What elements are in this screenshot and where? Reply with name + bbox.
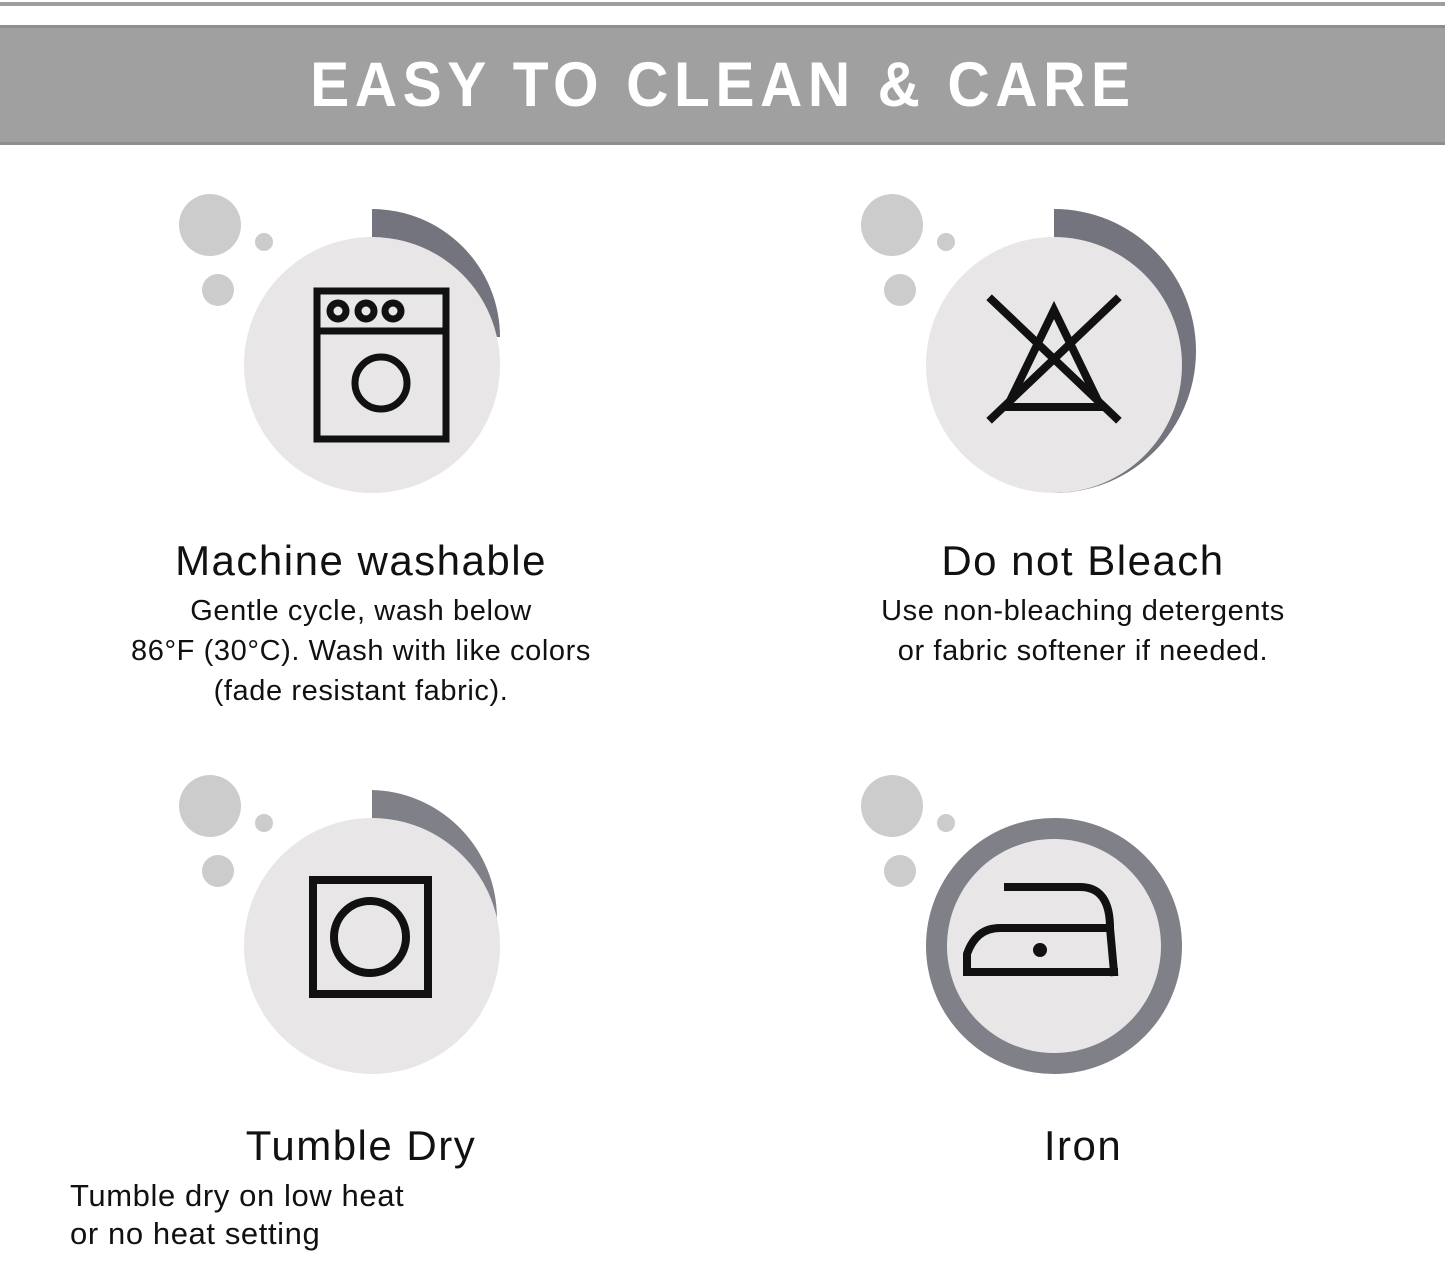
care-description-line: 86°F (30°C). Wash with like colors bbox=[0, 631, 722, 671]
do-not-bleach-caption: Do not Bleach Use non-bleaching detergen… bbox=[722, 537, 1444, 671]
care-cards-grid: Machine washable Gentle cycle, wash belo… bbox=[0, 175, 1445, 1254]
machine-washable-badge bbox=[160, 175, 560, 535]
care-description-line: or no heat setting bbox=[70, 1215, 490, 1254]
machine-washable-graphic bbox=[160, 175, 560, 535]
icon-disc bbox=[947, 839, 1161, 1053]
care-description: Use non-bleaching detergents or fabric s… bbox=[722, 591, 1444, 671]
iron-heat-dot-icon bbox=[1033, 943, 1047, 957]
care-description: Tumble dry on low heat or no heat settin… bbox=[70, 1177, 490, 1255]
care-description-line: Gentle cycle, wash below bbox=[0, 591, 722, 631]
bubble-large-icon bbox=[861, 775, 923, 837]
bubble-small-icon bbox=[937, 814, 955, 832]
care-title: Machine washable bbox=[0, 537, 722, 585]
icon-disc bbox=[244, 237, 500, 493]
bubble-medium-icon bbox=[202, 274, 234, 306]
care-description-line: or fabric softener if needed. bbox=[722, 631, 1444, 671]
bubble-small-icon bbox=[255, 814, 273, 832]
bubble-large-icon bbox=[861, 194, 923, 256]
bubble-small-icon bbox=[255, 233, 273, 251]
bubble-large-icon bbox=[179, 775, 241, 837]
care-description-line: Tumble dry on low heat bbox=[70, 1177, 490, 1216]
care-cards-row-bottom: Tumble Dry Tumble dry on low heat or no … bbox=[0, 756, 1445, 1254]
icon-disc bbox=[244, 818, 500, 1074]
care-card-tumble-dry: Tumble Dry Tumble dry on low heat or no … bbox=[0, 756, 722, 1254]
do-not-bleach-graphic bbox=[842, 175, 1242, 535]
care-title: Iron bbox=[722, 1122, 1444, 1170]
bubble-medium-icon bbox=[884, 855, 916, 887]
page-title: EASY TO CLEAN & CARE bbox=[310, 54, 1136, 117]
do-not-bleach-badge bbox=[842, 175, 1242, 535]
bubble-medium-icon bbox=[884, 274, 916, 306]
care-instructions-page: EASY TO CLEAN & CARE bbox=[0, 0, 1445, 1263]
care-card-do-not-bleach: Do not Bleach Use non-bleaching detergen… bbox=[722, 175, 1444, 711]
care-description-line: (fade resistant fabric). bbox=[0, 671, 722, 711]
care-description: Gentle cycle, wash below 86°F (30°C). Wa… bbox=[0, 591, 722, 711]
bubble-small-icon bbox=[937, 233, 955, 251]
tumble-dry-caption: Tumble Dry Tumble dry on low heat or no … bbox=[0, 1122, 722, 1254]
care-card-iron: Iron bbox=[722, 756, 1444, 1254]
tumble-dry-badge bbox=[160, 756, 560, 1116]
tumble-dry-graphic bbox=[160, 756, 560, 1116]
care-title: Do not Bleach bbox=[722, 537, 1444, 585]
icon-disc bbox=[926, 237, 1182, 493]
bubble-medium-icon bbox=[202, 855, 234, 887]
header-banner: EASY TO CLEAN & CARE bbox=[0, 25, 1445, 145]
top-divider-rule bbox=[0, 2, 1445, 6]
iron-caption: Iron bbox=[722, 1122, 1444, 1170]
machine-washable-caption: Machine washable Gentle cycle, wash belo… bbox=[0, 537, 722, 711]
care-title: Tumble Dry bbox=[0, 1122, 722, 1170]
iron-badge bbox=[842, 756, 1242, 1116]
bubble-large-icon bbox=[179, 194, 241, 256]
iron-graphic bbox=[842, 756, 1242, 1116]
care-description-line: Use non-bleaching detergents bbox=[722, 591, 1444, 631]
care-card-machine-washable: Machine washable Gentle cycle, wash belo… bbox=[0, 175, 722, 711]
care-cards-row-top: Machine washable Gentle cycle, wash belo… bbox=[0, 175, 1445, 711]
